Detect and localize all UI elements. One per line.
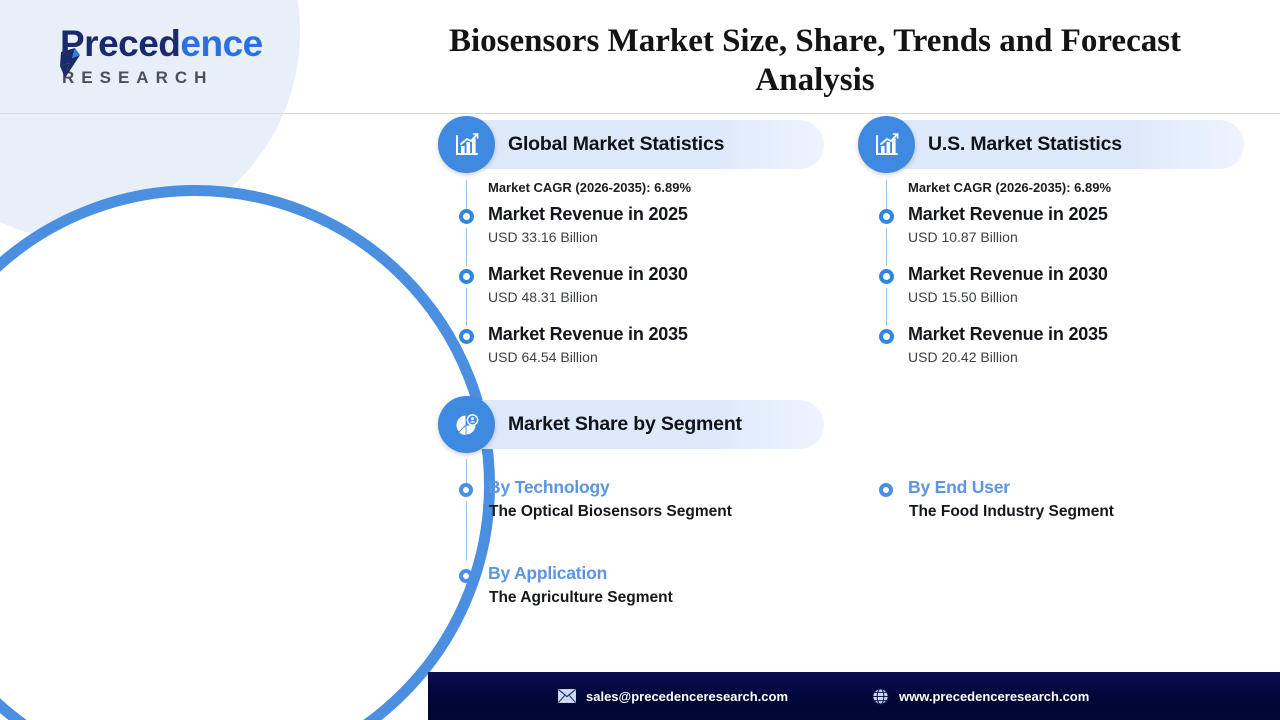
stat-row: Market Revenue in 2030 USD 15.50 Billion bbox=[860, 264, 1244, 324]
segment-value: The Optical Biosensors Segment bbox=[488, 503, 824, 521]
segment-item-by-end-user: By End User The Food Industry Segment bbox=[860, 477, 1244, 521]
stat-label: Market Revenue in 2035 bbox=[908, 324, 1244, 345]
footer-bar: sales@precedenceresearch.com www.precede… bbox=[428, 672, 1280, 720]
segment-label: By End User bbox=[908, 477, 1244, 498]
panel-header-us: U.S. Market Statistics bbox=[860, 120, 1244, 169]
segment-bullet-icon bbox=[459, 483, 473, 497]
pie-chart-search-icon bbox=[438, 396, 495, 453]
stat-bullet-icon bbox=[879, 209, 894, 224]
stat-label: Market Revenue in 2030 bbox=[908, 264, 1244, 285]
photo-ring-border bbox=[0, 185, 495, 720]
panel-market-share-by-segment: Market Share by Segment By Technology Th… bbox=[440, 400, 1280, 607]
globe-icon bbox=[872, 688, 889, 705]
segment-item-by-technology: By Technology The Optical Biosensors Seg… bbox=[440, 477, 824, 521]
envelope-icon bbox=[558, 689, 576, 703]
stat-bullet-icon bbox=[879, 329, 894, 344]
panel-title-segment: Market Share by Segment bbox=[508, 413, 742, 436]
stat-connector bbox=[466, 288, 468, 326]
logo-word-tail: ence bbox=[180, 23, 262, 64]
stat-row: Market Revenue in 2025 USD 33.16 Billion bbox=[440, 204, 824, 264]
segment-label: By Technology bbox=[488, 477, 824, 498]
stat-connector bbox=[466, 228, 468, 266]
panel-title-global: Global Market Statistics bbox=[508, 133, 724, 156]
biosensor-photo bbox=[0, 185, 495, 720]
segment-item-by-application: By Application The Agriculture Segment bbox=[440, 563, 824, 607]
segment-bullet-icon bbox=[459, 569, 473, 583]
segment-pre-connector bbox=[466, 459, 468, 483]
stat-list-us: Market Revenue in 2025 USD 10.87 Billion… bbox=[860, 204, 1244, 384]
cagr-us: Market CAGR (2026-2035): 6.89% bbox=[908, 180, 1244, 195]
precedence-logo-mark-icon bbox=[58, 46, 88, 85]
panel-header-global: Global Market Statistics bbox=[440, 120, 824, 169]
stat-value: USD 64.54 Billion bbox=[488, 349, 824, 365]
stat-pre-connector bbox=[466, 180, 468, 210]
content-area: Global Market Statistics Market CAGR (20… bbox=[440, 120, 1280, 607]
segment-connector bbox=[466, 501, 468, 561]
stat-bullet-icon bbox=[459, 269, 474, 284]
panel-header-segment: Market Share by Segment bbox=[440, 400, 824, 449]
stat-list-global: Market Revenue in 2025 USD 33.16 Billion… bbox=[440, 204, 824, 384]
footer-email[interactable]: sales@precedenceresearch.com bbox=[558, 689, 788, 704]
stat-value: USD 15.50 Billion bbox=[908, 289, 1244, 305]
cagr-global: Market CAGR (2026-2035): 6.89% bbox=[488, 180, 824, 195]
stat-connector bbox=[886, 228, 888, 266]
footer-email-text: sales@precedenceresearch.com bbox=[586, 689, 788, 704]
segment-label: By Application bbox=[488, 563, 824, 584]
stat-row: Market Revenue in 2030 USD 48.31 Billion bbox=[440, 264, 824, 324]
footer-website[interactable]: www.precedenceresearch.com bbox=[872, 688, 1089, 705]
stat-bullet-icon bbox=[879, 269, 894, 284]
panel-us-market-statistics: U.S. Market Statistics Market CAGR (2026… bbox=[860, 120, 1244, 384]
segment-value: The Food Industry Segment bbox=[908, 503, 1244, 521]
bar-chart-growth-icon bbox=[858, 116, 915, 173]
header-divider bbox=[0, 113, 1280, 114]
stat-row: Market Revenue in 2035 USD 20.42 Billion bbox=[860, 324, 1244, 384]
stat-bullet-icon bbox=[459, 329, 474, 344]
brand-logo[interactable]: Precedence RESEARCH bbox=[30, 22, 300, 92]
stat-label: Market Revenue in 2030 bbox=[488, 264, 824, 285]
stat-value: USD 48.31 Billion bbox=[488, 289, 824, 305]
stat-label: Market Revenue in 2025 bbox=[908, 204, 1244, 225]
segment-bullet-icon bbox=[879, 483, 893, 497]
stat-value: USD 20.42 Billion bbox=[908, 349, 1244, 365]
stat-value: USD 33.16 Billion bbox=[488, 229, 824, 245]
stat-row: Market Revenue in 2035 USD 64.54 Billion bbox=[440, 324, 824, 384]
stat-value: USD 10.87 Billion bbox=[908, 229, 1244, 245]
stat-bullet-icon bbox=[459, 209, 474, 224]
stat-connector bbox=[886, 288, 888, 326]
stat-label: Market Revenue in 2035 bbox=[488, 324, 824, 345]
footer-website-text: www.precedenceresearch.com bbox=[899, 689, 1089, 704]
stat-pre-connector bbox=[886, 180, 888, 210]
segment-value: The Agriculture Segment bbox=[488, 589, 824, 607]
infographic-canvas: Precedence RESEARCH Biosensors Market Si… bbox=[0, 0, 1280, 720]
segment-grid: By Technology The Optical Biosensors Seg… bbox=[440, 459, 1280, 607]
stat-label: Market Revenue in 2025 bbox=[488, 204, 824, 225]
page-title: Biosensors Market Size, Share, Trends an… bbox=[420, 22, 1210, 100]
bar-chart-growth-icon bbox=[438, 116, 495, 173]
panel-global-market-statistics: Global Market Statistics Market CAGR (20… bbox=[440, 120, 824, 384]
stat-row: Market Revenue in 2025 USD 10.87 Billion bbox=[860, 204, 1244, 264]
panel-title-us: U.S. Market Statistics bbox=[928, 133, 1122, 156]
